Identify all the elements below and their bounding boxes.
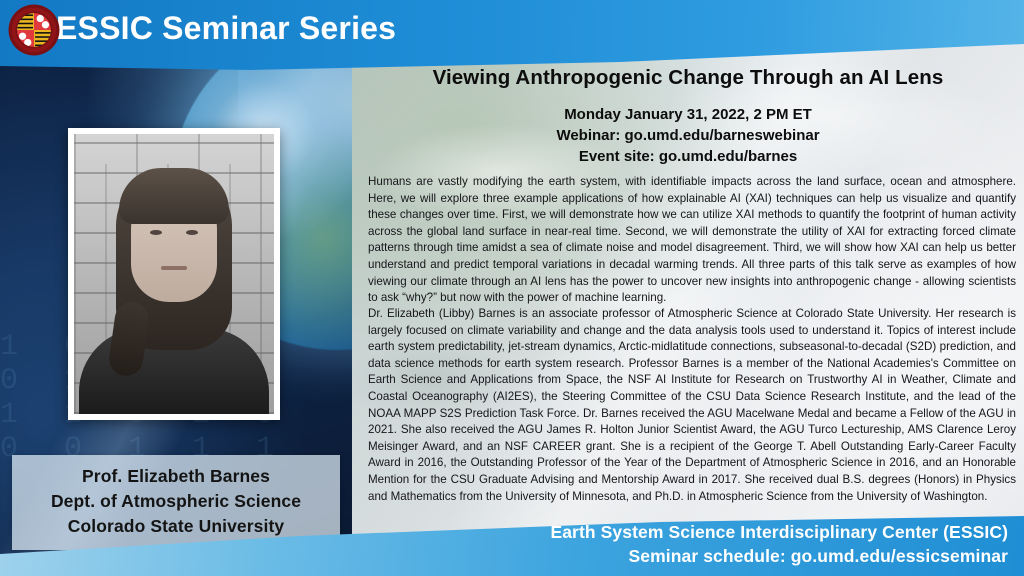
talk-title: Viewing Anthropogenic Change Through an … (352, 66, 1024, 90)
left-panel: 1 0 1 1 0 0 1 0 0 1 1 1 0 1 0 0 0 1 1 1 … (0, 0, 352, 576)
speaker-photo-frame (68, 128, 280, 420)
umd-seal-logo (8, 4, 60, 56)
speaker-name-plate: Prof. Elizabeth Barnes Dept. of Atmosphe… (12, 455, 340, 550)
speaker-department: Dept. of Atmospheric Science (18, 489, 334, 514)
event-webinar-link[interactable]: Webinar: go.umd.edu/barneswebinar (352, 125, 1024, 146)
portrait-tone-overlay (74, 134, 274, 414)
abstract-text: Humans are vastly modifying the earth sy… (368, 174, 1016, 307)
footer-text-block: Earth System Science Interdisciplinary C… (550, 520, 1008, 568)
event-site-link[interactable]: Event site: go.umd.edu/barnes (352, 146, 1024, 167)
speaker-institution: Colorado State University (18, 514, 334, 539)
right-content-panel: Viewing Anthropogenic Change Through an … (352, 0, 1024, 576)
seminar-poster: 1 0 1 1 0 0 1 0 0 1 1 1 0 1 0 0 0 1 1 1 … (0, 0, 1024, 576)
speaker-bio-text: Dr. Elizabeth (Libby) Barnes is an assoc… (368, 306, 1016, 505)
event-details: Monday January 31, 2022, 2 PM ET Webinar… (352, 104, 1024, 167)
speaker-portrait-photo (74, 134, 274, 414)
event-datetime: Monday January 31, 2022, 2 PM ET (352, 104, 1024, 125)
speaker-name: Prof. Elizabeth Barnes (18, 464, 334, 489)
seminar-series-title: ESSIC Seminar Series (56, 10, 396, 47)
seminar-schedule-link[interactable]: Seminar schedule: go.umd.edu/essicsemina… (550, 544, 1008, 568)
essic-center-name: Earth System Science Interdisciplinary C… (550, 520, 1008, 544)
